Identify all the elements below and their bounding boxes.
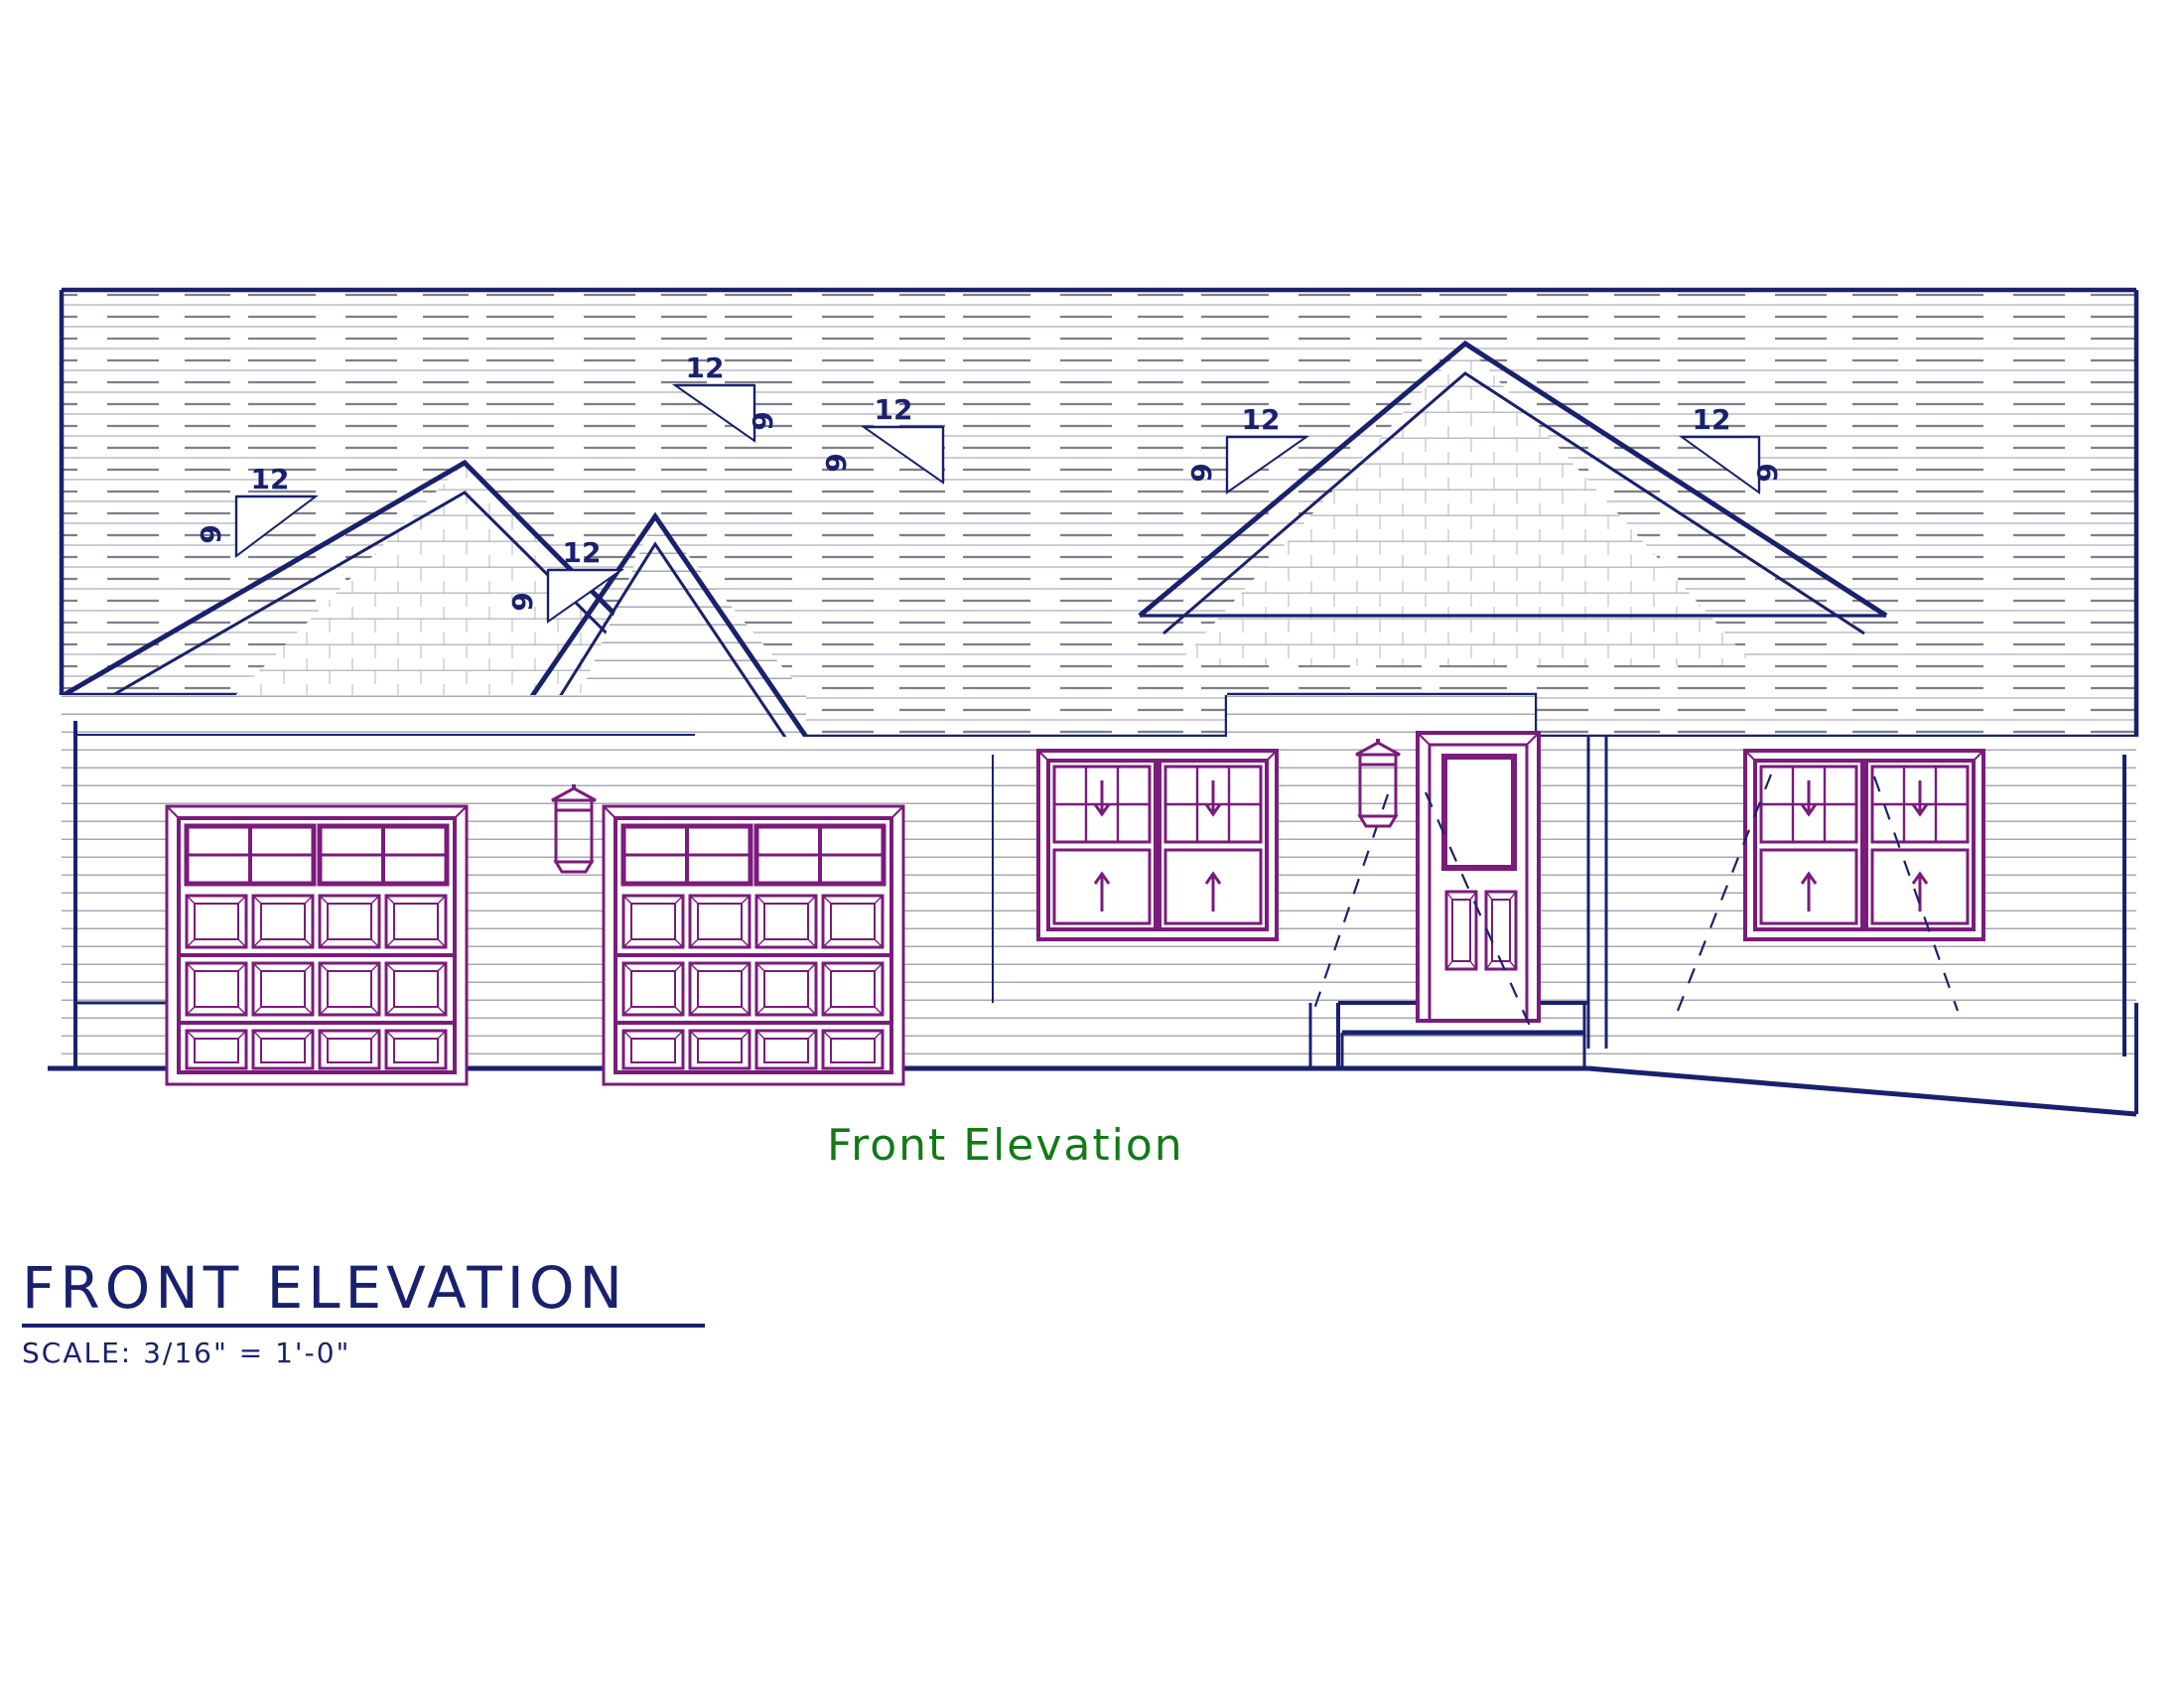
pitch-run-label: 12 xyxy=(1693,403,1731,436)
garage-door-left[interactable] xyxy=(167,806,467,1084)
scale-note: SCALE: 3/16" = 1'-0" xyxy=(22,1336,705,1369)
pitch-rise-label: 9 xyxy=(1185,463,1218,482)
front-elevation-drawing: 12 9 12 9 12 9 12 9 12 9 xyxy=(0,0,2184,1688)
view-label: Front Elevation xyxy=(827,1120,1184,1171)
pitch-rise-label: 9 xyxy=(195,524,227,543)
front-door[interactable] xyxy=(1418,733,1539,1021)
title-block: FRONT ELEVATION SCALE: 3/16" = 1'-0" xyxy=(22,1259,705,1369)
pitch-run-label: 12 xyxy=(251,463,290,495)
pitch-rise-label: 9 xyxy=(1751,463,1784,482)
window-left-pair[interactable] xyxy=(1038,751,1277,939)
pitch-run-label: 12 xyxy=(563,536,602,569)
pitch-rise-label: 9 xyxy=(747,411,779,430)
lamp-base-icon xyxy=(1360,816,1396,826)
pitch-run-label: 12 xyxy=(875,393,913,426)
pitch-run-label: 12 xyxy=(686,352,725,384)
garage-door-right[interactable] xyxy=(604,806,903,1084)
window-right-pair[interactable] xyxy=(1745,751,1983,939)
lamp-base-icon xyxy=(556,862,592,872)
grade-line-right-slope xyxy=(1588,1068,2136,1114)
pitch-rise-label: 9 xyxy=(820,453,853,472)
page-title: FRONT ELEVATION xyxy=(22,1259,705,1317)
elevation-sheet: 12 9 12 9 12 9 12 9 12 9 xyxy=(0,0,2184,1688)
pitch-rise-label: 9 xyxy=(506,592,539,611)
pitch-run-label: 12 xyxy=(1242,403,1281,436)
title-underline xyxy=(22,1324,705,1328)
